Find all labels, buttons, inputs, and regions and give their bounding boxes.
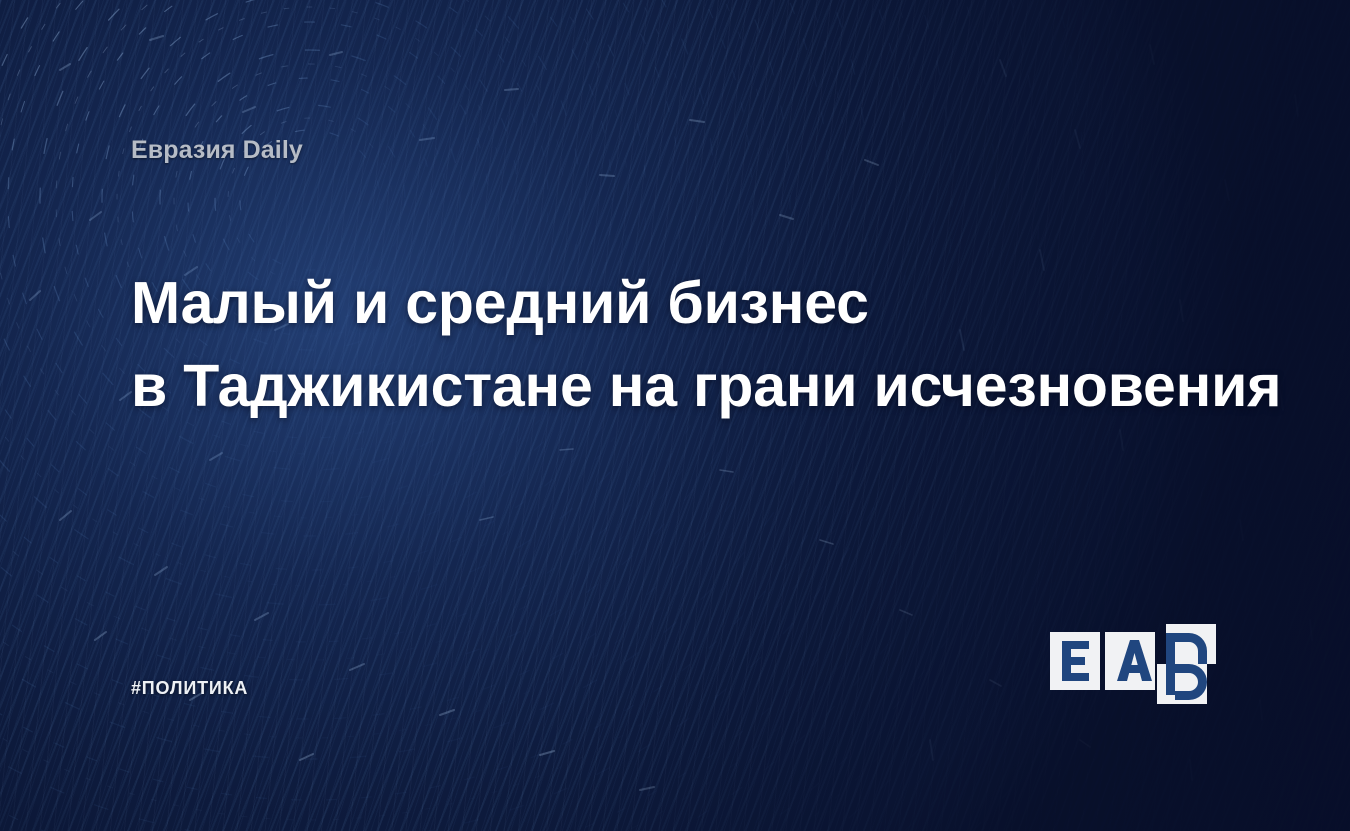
category-tag[interactable]: #ПОЛИТИКА — [131, 678, 248, 699]
headline-line-2: в Таджикистане на грани исчезновения — [131, 345, 1221, 428]
brand-name: Евразия Daily — [131, 136, 303, 165]
ead-logo[interactable] — [1046, 620, 1231, 714]
card-content: Евразия Daily Малый и средний бизнес в Т… — [0, 0, 1350, 831]
headline-line-1: Малый и средний бизнес — [131, 262, 1221, 345]
news-cover-card: Евразия Daily Малый и средний бизнес в Т… — [0, 0, 1350, 831]
headline: Малый и средний бизнес в Таджикистане на… — [131, 262, 1221, 428]
logo-letter-e — [1062, 641, 1089, 681]
